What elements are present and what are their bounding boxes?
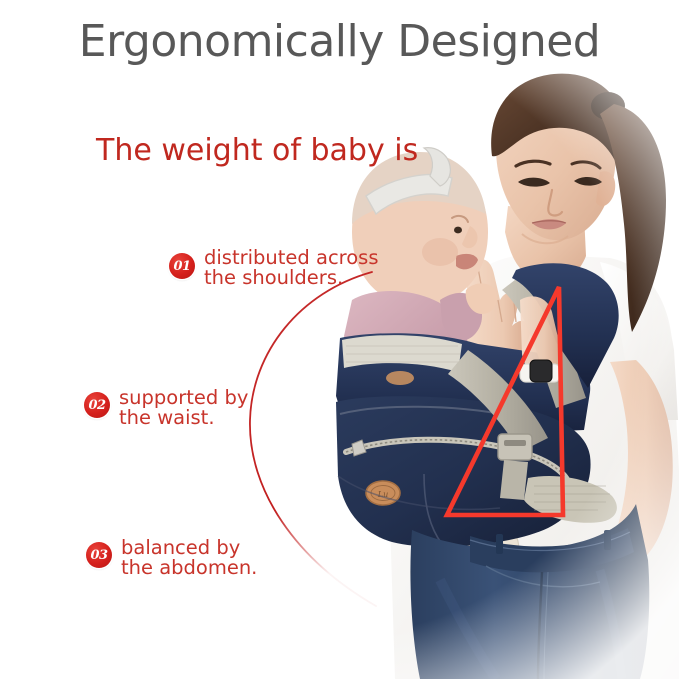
callout-02-label: supported by the waist. bbox=[119, 388, 248, 429]
callout-03-badge: 03 bbox=[86, 542, 112, 568]
callout-01-badge: 01 bbox=[169, 253, 195, 279]
callout-03-number: 03 bbox=[90, 549, 107, 562]
callout-03-label: balanced by the abdomen. bbox=[121, 538, 257, 579]
callout-03: 03 balanced by the abdomen. bbox=[86, 538, 257, 579]
callout-02-number: 02 bbox=[88, 399, 105, 412]
callout-02-badge: 02 bbox=[84, 392, 110, 418]
callout-01-label: distributed across the shoulders. bbox=[204, 248, 379, 289]
subtitle: The weight of baby is bbox=[96, 133, 418, 168]
infographic-root: Lu bbox=[0, 0, 679, 679]
callout-02: 02 supported by the waist. bbox=[84, 388, 248, 429]
callout-01: 01 distributed across the shoulders. bbox=[169, 248, 379, 289]
page-title: Ergonomically Designed bbox=[0, 16, 679, 67]
callout-01-number: 01 bbox=[173, 260, 190, 273]
